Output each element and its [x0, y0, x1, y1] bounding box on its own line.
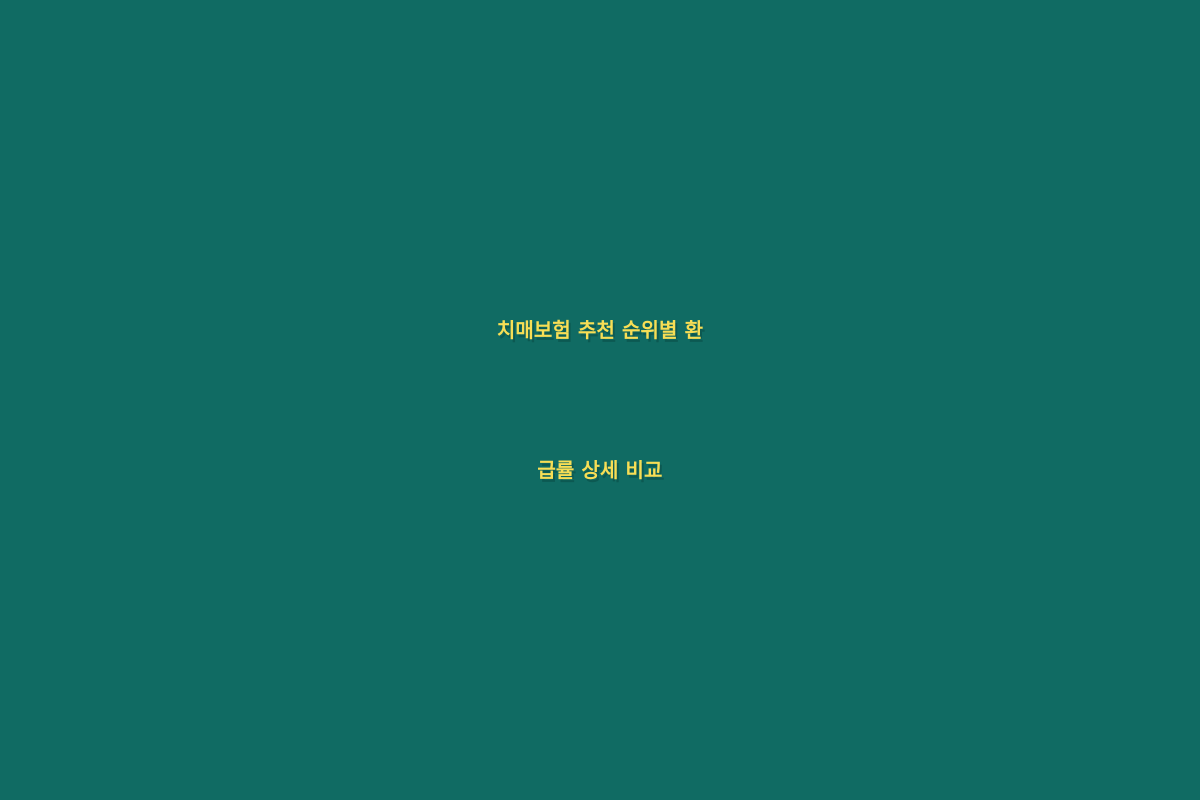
title-banner: 치매보험 추천 순위별 환 급률 상세 비교 — [0, 0, 1200, 800]
headline-line-1: 치매보험 추천 순위별 환 — [70, 260, 1130, 400]
headline-block: 치매보험 추천 순위별 환 급률 상세 비교 — [70, 260, 1130, 540]
headline-line-2: 급률 상세 비교 — [70, 400, 1130, 540]
